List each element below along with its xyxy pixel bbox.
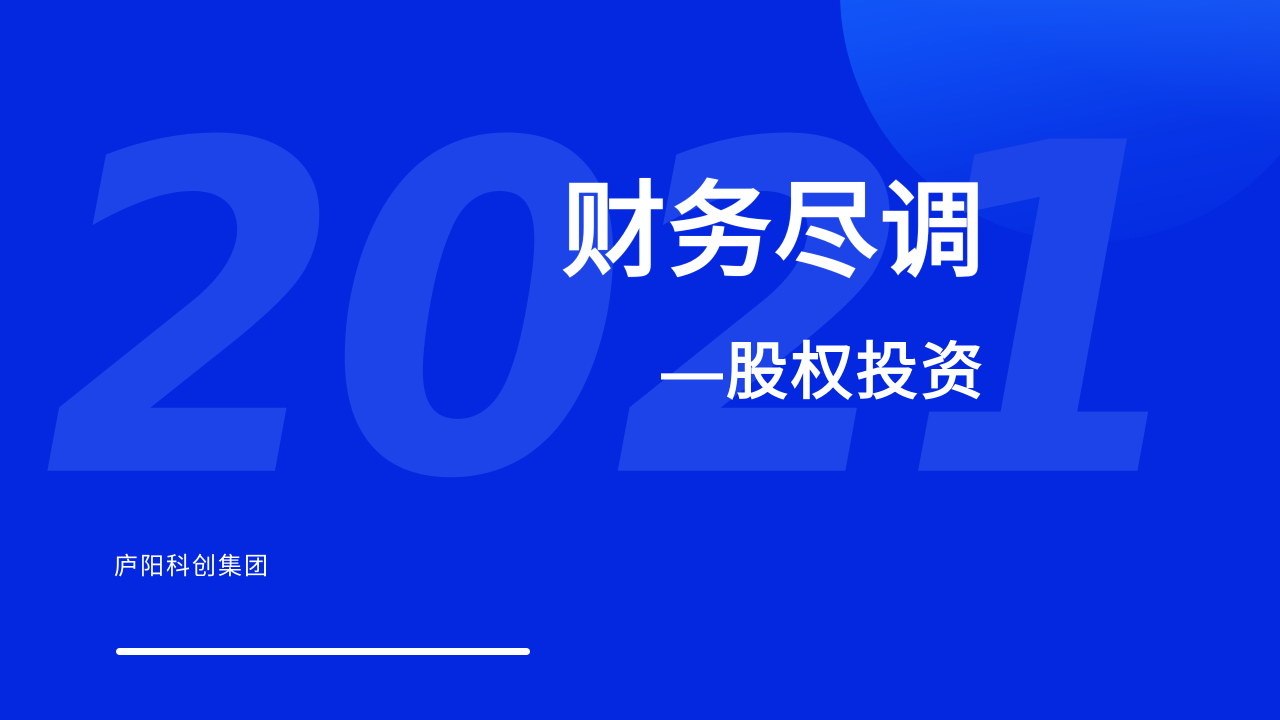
page-title: 财务尽调 (0, 178, 986, 287)
title-block: 财务尽调 —股权投资 (0, 0, 1010, 407)
title-slide: 2021 财务尽调 —股权投资 庐阳科创集团 (0, 0, 1280, 720)
page-subtitle: —股权投资 (0, 339, 986, 407)
organization-name: 庐阳科创集团 (114, 546, 270, 581)
footer-divider-rule (116, 648, 530, 655)
